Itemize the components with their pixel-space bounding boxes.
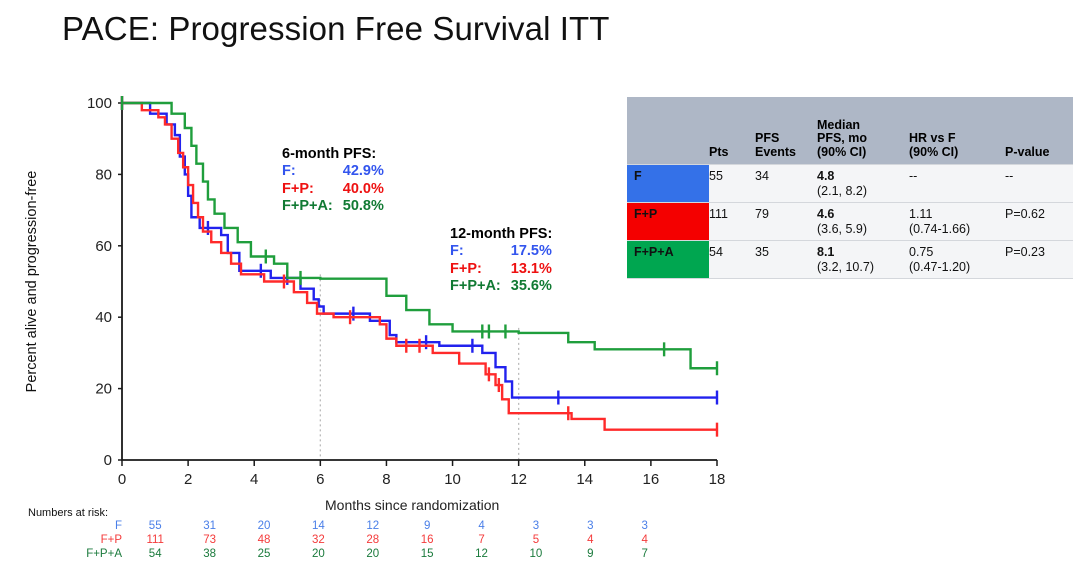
annotation-12-month: 12-month PFS: F: 17.5% F+P: 13.1% F+P+A:… bbox=[450, 226, 552, 296]
numbers-at-risk-value: 10 bbox=[509, 547, 563, 561]
row-hr-value: 1.11 bbox=[909, 207, 932, 221]
row-pvalue: P=0.23 bbox=[1005, 241, 1073, 279]
results-table: Pts PFS Events Median PFS, mo (90% CI) H… bbox=[627, 97, 1073, 279]
table-row: F 55 34 4.8 (2.1, 8.2) -- -- bbox=[627, 165, 1073, 203]
annotation-label: F+P: bbox=[282, 181, 333, 199]
y-tick-label: 80 bbox=[95, 166, 112, 183]
x-tick-label: 0 bbox=[118, 471, 126, 488]
row-median-ci: (3.2, 10.7) bbox=[817, 260, 874, 274]
annotation-value: 40.0% bbox=[333, 181, 384, 199]
numbers-at-risk-caption: Numbers at risk: bbox=[28, 507, 108, 519]
table-row: F+P 111 79 4.6 (3.6, 5.9) 1.11 (0.74-1.6… bbox=[627, 203, 1073, 241]
numbers-at-risk-value: 3 bbox=[563, 519, 617, 533]
y-tick-label: 0 bbox=[104, 452, 112, 469]
col-median-pfs: Median PFS, mo (90% CI) bbox=[817, 97, 909, 165]
table-row: F+P+A 54 35 8.1 (3.2, 10.7) 0.75 (0.47-1… bbox=[627, 241, 1073, 279]
col-hr: HR vs F (90% CI) bbox=[909, 97, 1005, 165]
row-events: 35 bbox=[755, 241, 817, 279]
row-group-label: F bbox=[627, 165, 709, 203]
col-hr-line2: (90% CI) bbox=[909, 145, 958, 159]
row-pvalue: -- bbox=[1005, 165, 1073, 203]
col-hr-line1: HR vs F bbox=[909, 131, 956, 145]
numbers-at-risk-value: 25 bbox=[237, 547, 291, 561]
col-pfs-events-line2: Events bbox=[755, 145, 796, 159]
row-median-value: 4.8 bbox=[817, 169, 834, 183]
x-tick-label: 10 bbox=[444, 471, 461, 488]
numbers-at-risk-row: F553120141294333 bbox=[60, 519, 672, 533]
row-hr: -- bbox=[909, 165, 1005, 203]
annotation-label: F: bbox=[282, 163, 333, 181]
row-median-value: 4.6 bbox=[817, 207, 834, 221]
row-median: 4.6 (3.6, 5.9) bbox=[817, 203, 909, 241]
row-pts: 55 bbox=[709, 165, 755, 203]
numbers-at-risk-value: 9 bbox=[563, 547, 617, 561]
annotation-6-month-header: 6-month PFS: bbox=[282, 146, 384, 163]
annotation-row: F+P+A: 50.8% bbox=[282, 198, 384, 216]
row-pvalue: P=0.62 bbox=[1005, 203, 1073, 241]
numbers-at-risk-value: 4 bbox=[563, 533, 617, 547]
annotation-value: 17.5% bbox=[501, 243, 552, 261]
row-median-ci: (3.6, 5.9) bbox=[817, 222, 867, 236]
numbers-at-risk-value: 16 bbox=[400, 533, 454, 547]
numbers-at-risk-value: 7 bbox=[618, 547, 672, 561]
page-title: PACE: Progression Free Survival ITT bbox=[62, 10, 610, 48]
row-hr: 0.75 (0.47-1.20) bbox=[909, 241, 1005, 279]
numbers-at-risk-value: 3 bbox=[509, 519, 563, 533]
row-hr: 1.11 (0.74-1.66) bbox=[909, 203, 1005, 241]
annotation-row: F+P: 13.1% bbox=[450, 261, 552, 279]
x-tick-label: 8 bbox=[382, 471, 390, 488]
row-group-label: F+P bbox=[627, 203, 709, 241]
row-group-label: F+P+A bbox=[627, 241, 709, 279]
annotation-row: F+P+A: 35.6% bbox=[450, 278, 552, 296]
annotation-6-month-table: F: 42.9% F+P: 40.0% F+P+A: 50.8% bbox=[282, 163, 384, 216]
col-group bbox=[627, 97, 709, 165]
row-pts: 111 bbox=[709, 203, 755, 241]
annotation-12-month-table: F: 17.5% F+P: 13.1% F+P+A: 35.6% bbox=[450, 243, 552, 296]
col-pvalue: P-value bbox=[1005, 97, 1073, 165]
row-pts: 54 bbox=[709, 241, 755, 279]
numbers-at-risk-value: 12 bbox=[454, 547, 508, 561]
col-pfs-events: PFS Events bbox=[755, 97, 817, 165]
x-tick-label: 18 bbox=[709, 471, 726, 488]
col-median-line1: Median bbox=[817, 118, 860, 132]
annotation-value: 50.8% bbox=[333, 198, 384, 216]
annotation-12-month-header: 12-month PFS: bbox=[450, 226, 552, 243]
row-hr-ci: (0.47-1.20) bbox=[909, 260, 970, 274]
row-hr-value: -- bbox=[909, 169, 917, 183]
numbers-at-risk-value: 12 bbox=[346, 519, 400, 533]
annotation-value: 13.1% bbox=[501, 261, 552, 279]
row-hr-value: 0.75 bbox=[909, 245, 933, 259]
row-hr-ci: (0.74-1.66) bbox=[909, 222, 970, 236]
numbers-at-risk-value: 20 bbox=[346, 547, 400, 561]
numbers-at-risk-group: F bbox=[60, 519, 128, 533]
numbers-at-risk-value: 4 bbox=[618, 533, 672, 547]
x-tick-label: 2 bbox=[184, 471, 192, 488]
annotation-label: F+P+A: bbox=[450, 278, 501, 296]
row-median-ci: (2.1, 8.2) bbox=[817, 184, 867, 198]
x-tick-label: 6 bbox=[316, 471, 324, 488]
numbers-at-risk-value: 20 bbox=[291, 547, 345, 561]
numbers-at-risk-value: 73 bbox=[182, 533, 236, 547]
numbers-at-risk-value: 7 bbox=[454, 533, 508, 547]
numbers-at-risk-value: 4 bbox=[454, 519, 508, 533]
annotation-label: F+P: bbox=[450, 261, 501, 279]
x-tick-label: 14 bbox=[576, 471, 593, 488]
y-axis-title: Percent alive and progression-free bbox=[24, 171, 40, 393]
numbers-at-risk-row: F+P+A543825202015121097 bbox=[60, 547, 672, 561]
numbers-at-risk: Numbers at risk: F553120141294333F+P1117… bbox=[0, 505, 740, 563]
annotation-row: F: 17.5% bbox=[450, 243, 552, 261]
numbers-at-risk-value: 31 bbox=[182, 519, 236, 533]
col-pts: Pts bbox=[709, 97, 755, 165]
x-tick-label: 12 bbox=[510, 471, 527, 488]
col-median-line3: (90% CI) bbox=[817, 145, 866, 159]
row-median-value: 8.1 bbox=[817, 245, 834, 259]
row-events: 34 bbox=[755, 165, 817, 203]
slide-root: PACE: Progression Free Survival ITT 0204… bbox=[0, 0, 1080, 560]
numbers-at-risk-value: 55 bbox=[128, 519, 182, 533]
numbers-at-risk-group: F+P bbox=[60, 533, 128, 547]
numbers-at-risk-table: F553120141294333F+P11173483228167544F+P+… bbox=[60, 519, 672, 561]
numbers-at-risk-value: 15 bbox=[400, 547, 454, 561]
numbers-at-risk-group: F+P+A bbox=[60, 547, 128, 561]
row-events: 79 bbox=[755, 203, 817, 241]
numbers-at-risk-value: 20 bbox=[237, 519, 291, 533]
numbers-at-risk-row: F+P11173483228167544 bbox=[60, 533, 672, 547]
numbers-at-risk-value: 5 bbox=[509, 533, 563, 547]
annotation-value: 35.6% bbox=[501, 278, 552, 296]
y-tick-label: 100 bbox=[87, 95, 112, 112]
y-tick-label: 40 bbox=[95, 309, 112, 326]
annotation-label: F: bbox=[450, 243, 501, 261]
annotation-value: 42.9% bbox=[333, 163, 384, 181]
numbers-at-risk-value: 28 bbox=[346, 533, 400, 547]
numbers-at-risk-value: 54 bbox=[128, 547, 182, 561]
numbers-at-risk-value: 38 bbox=[182, 547, 236, 561]
numbers-at-risk-value: 48 bbox=[237, 533, 291, 547]
y-tick-label: 60 bbox=[95, 238, 112, 255]
numbers-at-risk-value: 14 bbox=[291, 519, 345, 533]
col-pfs-events-line1: PFS bbox=[755, 131, 779, 145]
row-median: 8.1 (3.2, 10.7) bbox=[817, 241, 909, 279]
row-median: 4.8 (2.1, 8.2) bbox=[817, 165, 909, 203]
numbers-at-risk-value: 3 bbox=[618, 519, 672, 533]
x-tick-label: 16 bbox=[643, 471, 660, 488]
x-tick-label: 4 bbox=[250, 471, 258, 488]
annotation-row: F: 42.9% bbox=[282, 163, 384, 181]
numbers-at-risk-value: 9 bbox=[400, 519, 454, 533]
annotation-row: F+P: 40.0% bbox=[282, 181, 384, 199]
y-tick-label: 20 bbox=[95, 381, 112, 398]
annotation-6-month: 6-month PFS: F: 42.9% F+P: 40.0% F+P+A: … bbox=[282, 146, 384, 216]
annotation-label: F+P+A: bbox=[282, 198, 333, 216]
numbers-at-risk-value: 32 bbox=[291, 533, 345, 547]
results-table-header-row: Pts PFS Events Median PFS, mo (90% CI) H… bbox=[627, 97, 1073, 165]
col-median-line2: PFS, mo bbox=[817, 131, 867, 145]
numbers-at-risk-value: 111 bbox=[128, 533, 182, 547]
